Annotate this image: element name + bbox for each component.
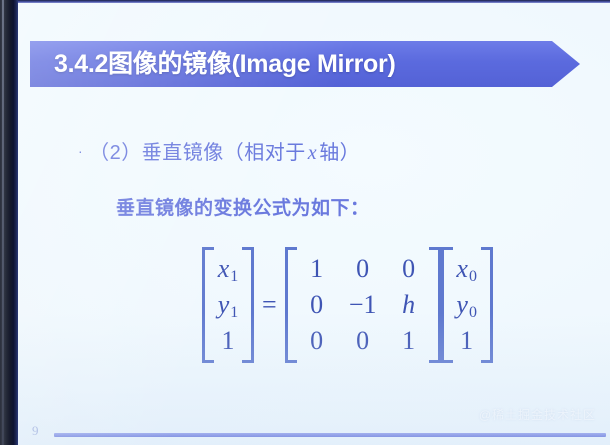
cell-r2c1: 0: [340, 323, 386, 359]
bullet-line-vertical-mirror: ·（2）垂直镜像（相对于x轴）: [78, 136, 360, 165]
matrix-row: 1: [450, 323, 484, 359]
matrix-row: 0 −1 h: [294, 287, 432, 323]
cell-r1c1: −1: [340, 287, 386, 323]
matrix-row: y1: [211, 287, 245, 323]
cell-r0c0: 1: [294, 251, 340, 287]
equals-sign: =: [254, 290, 285, 320]
matrix-row: x1: [211, 251, 245, 287]
lhs-column-vector: x1 y1 1: [202, 247, 254, 363]
matrix-row: 0 0 1: [294, 323, 432, 359]
formula-intro-text: 垂直镜像的变换公式为如下：: [116, 193, 370, 220]
matrix-row: y0: [450, 287, 484, 323]
matrix-row: 1 0 0: [294, 251, 432, 287]
rhs-column-vector: x0 y0 1: [441, 247, 493, 363]
bullet-line-suffix: 轴）: [319, 142, 360, 164]
cell-r0c2: 0: [386, 251, 432, 287]
slide-canvas: 3.4.2图像的镜像(Image Mirror) ·（2）垂直镜像（相对于x轴）…: [16, 3, 610, 445]
matrix-row: 1: [211, 323, 245, 359]
subscript: 1: [229, 268, 238, 285]
cell-r1c0: 0: [294, 287, 340, 323]
subscript: 1: [229, 304, 238, 321]
footer-divider: [54, 433, 606, 437]
transform-matrix: 1 0 0 0 −1 h 0 0 1: [285, 247, 441, 363]
cell-r2c2: 1: [386, 323, 432, 359]
cell-one: 1: [211, 323, 245, 359]
page-number: 9: [32, 423, 39, 439]
cell-r1c2: h: [386, 287, 432, 323]
cell-r2c0: 0: [294, 323, 340, 359]
projected-slide-photo: 3.4.2图像的镜像(Image Mirror) ·（2）垂直镜像（相对于x轴）…: [0, 0, 610, 445]
cell-one: 1: [450, 323, 484, 359]
watermark: @稀土掘金技术社区: [479, 406, 596, 423]
screen-edge-top: [16, 0, 610, 3]
subscript: 0: [468, 268, 477, 285]
bullet-line-variable: x: [306, 142, 319, 164]
page-title: 3.4.2图像的镜像(Image Mirror): [54, 41, 395, 87]
bullet-dot-icon: ·: [78, 143, 83, 159]
title-banner: 3.4.2图像的镜像(Image Mirror): [30, 41, 580, 87]
matrix-row: x0: [450, 251, 484, 287]
cell-r0c1: 0: [340, 251, 386, 287]
matrix-equation: x1 y1 1 = 1 0 0 0 −1 h: [202, 247, 493, 363]
bullet-line-prefix: （2）垂直镜像（相对于: [89, 142, 306, 164]
subscript: 0: [468, 304, 477, 321]
screen-bezel-highlight: [2, 0, 4, 445]
